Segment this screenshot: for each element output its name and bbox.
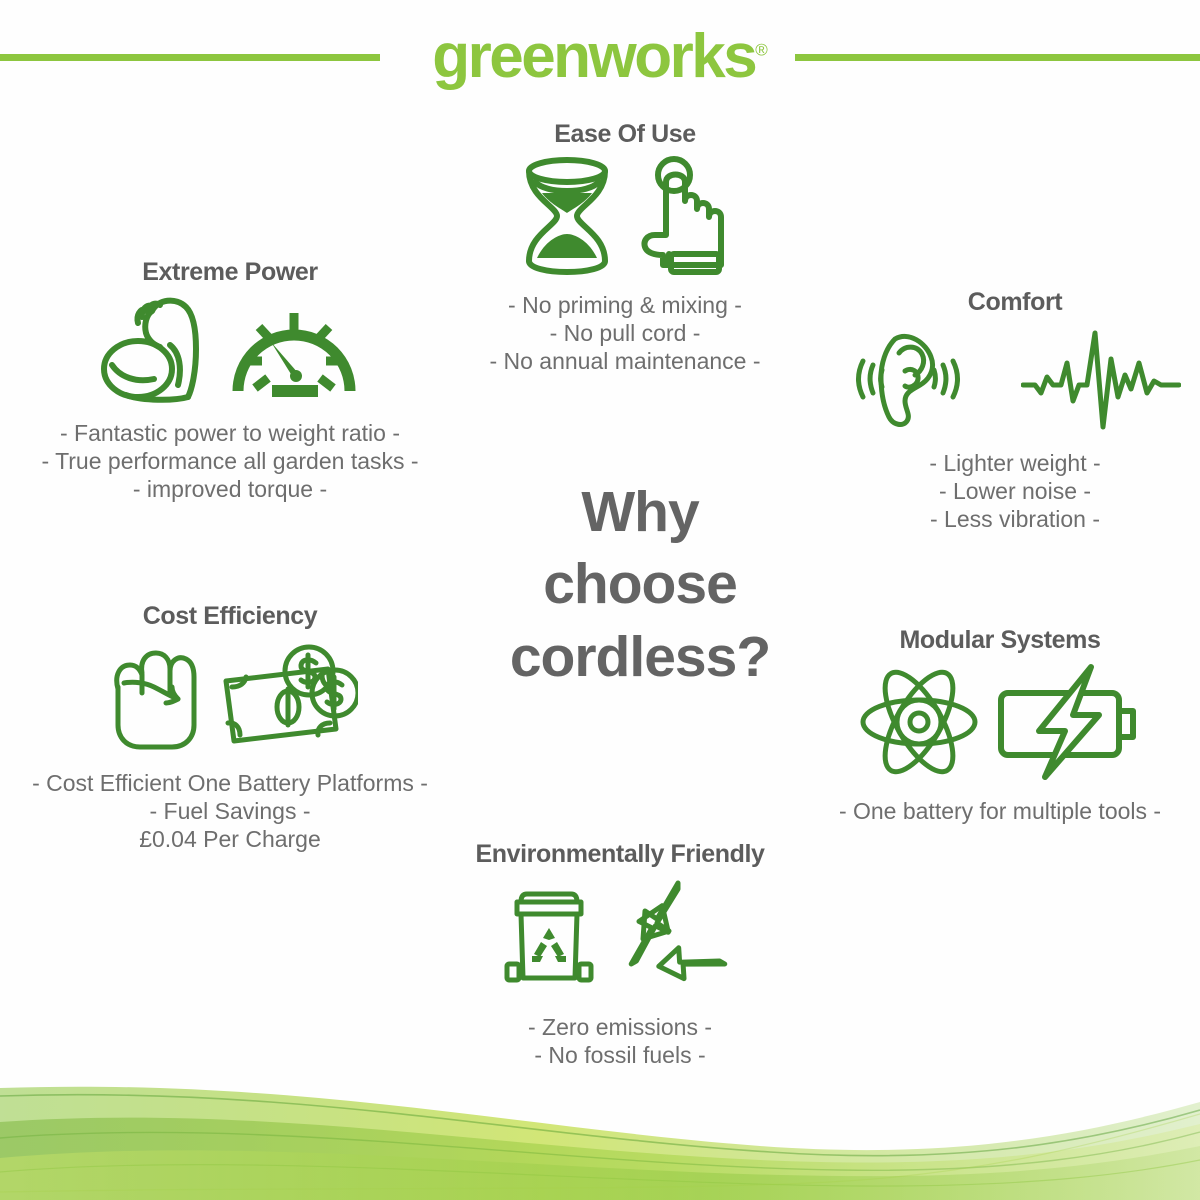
feature-line: - Cost Efficient One Battery Platforms -: [0, 770, 460, 798]
feature-lines: - Fantastic power to weight ratio - - Tr…: [0, 420, 460, 503]
feature-ease-of-use: Ease Of Use: [440, 120, 810, 375]
feature-line: - No fossil fuels -: [420, 1042, 820, 1070]
recycle-bin-icon: [497, 878, 601, 1001]
banknote-with-coins-icon: [218, 637, 358, 760]
feature-lines: - Cost Efficient One Battery Platforms -…: [0, 770, 460, 853]
bottom-wave-decoration: [0, 1050, 1200, 1200]
feature-title: Ease Of Use: [440, 120, 810, 149]
feature-line: - No annual maintenance -: [440, 348, 810, 376]
feature-lines: - Lighter weight - - Lower noise - - Les…: [830, 450, 1200, 533]
feature-line: - Lower noise -: [830, 478, 1200, 506]
feature-lines: - No priming & mixing - - No pull cord -…: [440, 292, 810, 375]
brand-logo-text: greenworks: [432, 22, 755, 91]
header: greenworks®: [0, 0, 1200, 110]
feature-title: Environmentally Friendly: [420, 840, 820, 869]
feature-line: £0.04 Per Charge: [0, 826, 460, 854]
recycle-arrows-icon: [613, 875, 743, 1004]
feature-extreme-power: Extreme Power: [0, 258, 460, 503]
feature-environmentally-friendly: Environmentally Friendly: [420, 840, 820, 1070]
feature-comfort: Comfort - Lighter: [830, 288, 1200, 533]
feature-line: - One battery for multiple tools -: [800, 798, 1200, 826]
waveform-icon: [1021, 323, 1181, 440]
feature-cost-efficiency: Cost Efficiency: [0, 602, 460, 853]
registered-trademark-icon: ®: [755, 40, 768, 59]
speedometer-icon: [224, 293, 364, 410]
feature-title: Cost Efficiency: [0, 602, 460, 631]
headline-line-3: cordless?: [460, 621, 820, 693]
headline-line-2: choose: [460, 548, 820, 620]
center-headline: Why choose cordless?: [460, 476, 820, 693]
atom-icon: [857, 661, 981, 788]
pointing-hand-icon: [633, 155, 737, 282]
feature-line: - No priming & mixing -: [440, 292, 810, 320]
flexed-bicep-icon: [96, 293, 212, 410]
battery-bolt-icon: [993, 661, 1143, 788]
feature-title: Comfort: [830, 288, 1200, 317]
feature-icons: [830, 323, 1200, 440]
feature-icons: [0, 637, 460, 760]
feature-line: - Fantastic power to weight ratio -: [0, 420, 460, 448]
fist-icon: [102, 637, 206, 760]
feature-title: Modular Systems: [800, 626, 1200, 655]
feature-line: - True performance all garden tasks -: [0, 448, 460, 476]
feature-modular-systems: Modular Systems: [800, 626, 1200, 826]
feature-line: - improved torque -: [0, 476, 460, 504]
infographic-page: greenworks® Extreme Power: [0, 0, 1200, 1200]
feature-lines: - One battery for multiple tools -: [800, 798, 1200, 826]
feature-line: - No pull cord -: [440, 320, 810, 348]
brand-logo: greenworks®: [0, 0, 1200, 88]
feature-line: - Zero emissions -: [420, 1014, 820, 1042]
ear-with-sound-waves-icon: [849, 323, 1009, 440]
hourglass-icon: [513, 155, 621, 282]
headline-line-1: Why: [460, 476, 820, 548]
feature-line: - Lighter weight -: [830, 450, 1200, 478]
feature-icons: [440, 155, 810, 282]
feature-icons: [800, 661, 1200, 788]
feature-title: Extreme Power: [0, 258, 460, 287]
feature-icons: [0, 293, 460, 410]
feature-lines: - Zero emissions - - No fossil fuels -: [420, 1014, 820, 1070]
feature-icons: [420, 875, 820, 1004]
feature-line: - Fuel Savings -: [0, 798, 460, 826]
feature-line: - Less vibration -: [830, 506, 1200, 534]
